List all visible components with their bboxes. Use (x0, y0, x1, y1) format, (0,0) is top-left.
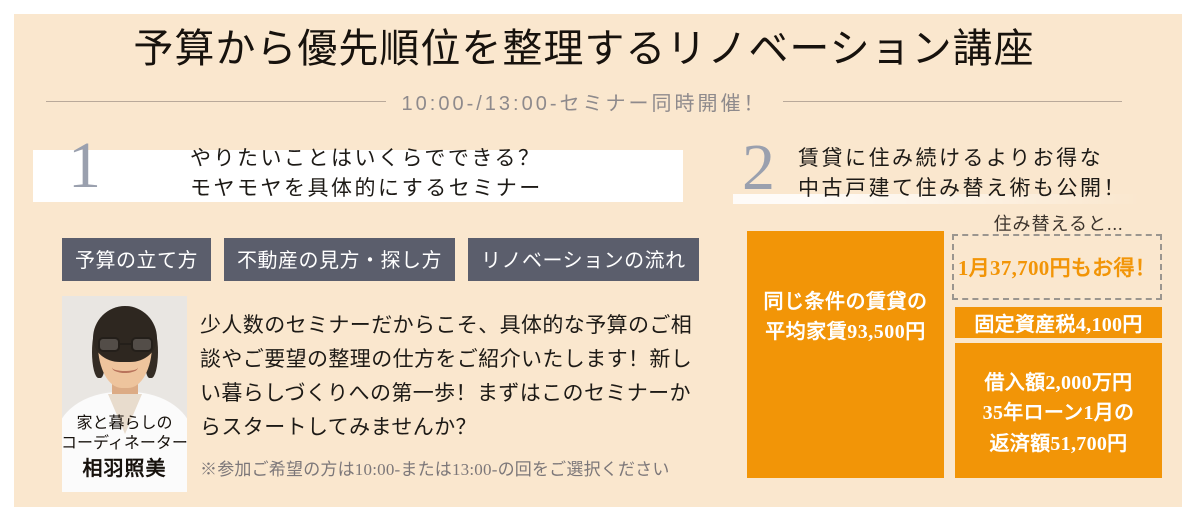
photo-smile (112, 362, 138, 373)
glasses-icon (98, 337, 153, 353)
photo-hair (93, 306, 157, 362)
rent-cost-box: 同じ条件の賃貸の 平均家賃93,500円 (747, 231, 944, 478)
section-one-number: 1 (68, 133, 101, 199)
loan-repayment-box: 借入額2,000万円 35年ローン1月の 返済額51,700円 (955, 343, 1162, 478)
presenter-caption: 家と暮らしの コーディネーター 相羽照美 (56, 414, 193, 483)
poster-root: 予算から優先順位を整理するリノベーション講座 10:00-/13:00-セミナー… (0, 0, 1200, 521)
glasses-bridge (120, 343, 131, 345)
topic-tag: 予算の立て方 (62, 238, 211, 281)
glasses-lens-right (131, 337, 153, 352)
loan-repayment-text: 借入額2,000万円 35年ローン1月の 返済額51,700円 (983, 368, 1135, 459)
topic-tag: リノベーションの流れ (468, 238, 699, 281)
subtitle-text: 10:00-/13:00-セミナー同時開催！ (402, 87, 767, 116)
savings-amount-text: 1月37,700円もお得！ (958, 252, 1156, 282)
topic-tag-list: 予算の立て方 不動産の見方・探し方 リノベーションの流れ (62, 238, 699, 281)
divider-right (783, 101, 1123, 102)
glasses-lens-left (98, 337, 120, 352)
section-one-heading: やりたいことはいくらでできる？ モヤモヤを具体的にするセミナー (190, 143, 543, 204)
property-tax-text: 固定資産税4,100円 (974, 308, 1142, 337)
page-title: 予算から優先順位を整理するリノベーション講座 (0, 26, 1168, 72)
divider-left (46, 101, 386, 102)
presenter-role-line2: コーディネーター (56, 434, 193, 454)
topic-tag: 不動産の見方・探し方 (224, 238, 455, 281)
section-two-number: 2 (742, 135, 775, 201)
presenter-role-line1: 家と暮らしの (56, 414, 193, 434)
subtitle-row: 10:00-/13:00-セミナー同時開催！ (46, 86, 1122, 116)
savings-callout-box: 1月37,700円もお得！ (952, 234, 1162, 300)
section-one-body: 少人数のセミナーだからこそ、具体的な予算のご相談やご要望の整理の仕方をご紹介いた… (200, 308, 700, 444)
section-two-heading: 賃貸に住み続けるよりお得な 中古戸建て住み替え術も公開！ (798, 143, 1127, 204)
section-one-note: ※参加ご希望の方は10:00-または13:00-の回をご選択ください (200, 455, 670, 480)
switch-label: 住み替えると... (955, 210, 1162, 236)
rent-cost-text: 同じ条件の賃貸の 平均家賃93,500円 (764, 287, 928, 347)
presenter-name: 相羽照美 (56, 457, 193, 483)
property-tax-bar: 固定資産税4,100円 (955, 307, 1162, 338)
